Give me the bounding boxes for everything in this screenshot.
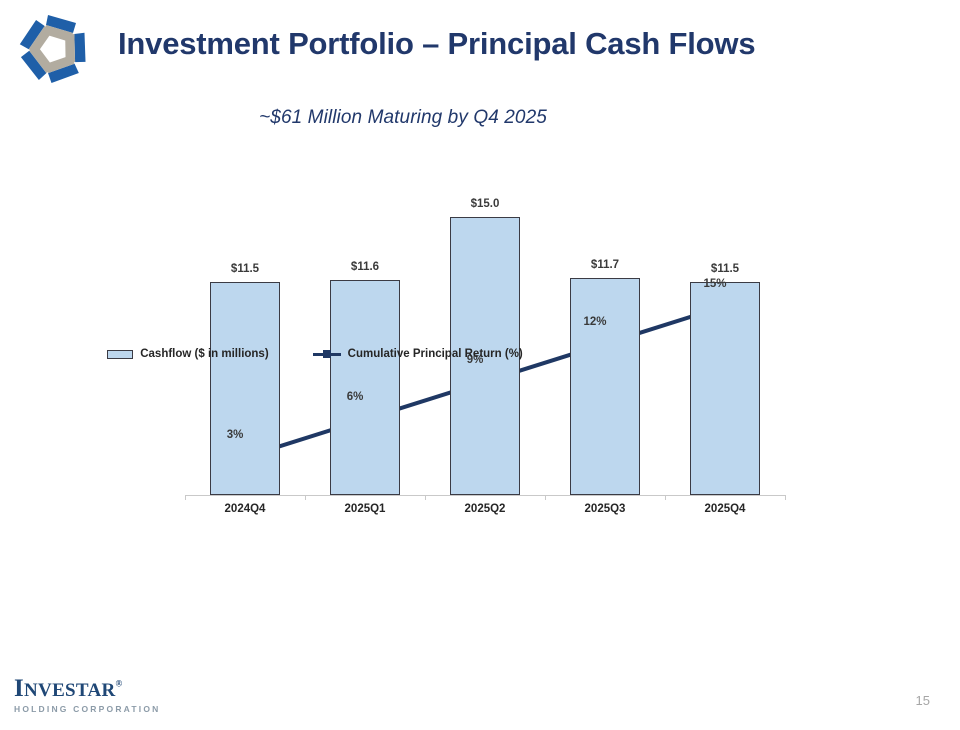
chart-plot-region: $11.5$11.6$15.0$11.7$11.53%6%9%12%15% — [165, 180, 795, 495]
legend-item-cumulative-return[interactable]: Cumulative Principal Return (%) — [313, 348, 523, 360]
axis-tick — [545, 495, 546, 500]
axis-tick — [185, 495, 186, 500]
category-label-2025Q4: 2025Q4 — [705, 503, 746, 515]
line-value-label: 12% — [583, 316, 606, 328]
wordmark-tagline: HOLDING CORPORATION — [14, 704, 204, 714]
bar-group: $15.0 — [450, 180, 520, 495]
bar-value-label: $11.6 — [351, 261, 379, 273]
category-label-2025Q3: 2025Q3 — [585, 503, 626, 515]
bar-value-label: $11.5 — [231, 263, 259, 275]
bar-cashflow-2024Q4[interactable] — [210, 282, 280, 495]
axis-tick — [425, 495, 426, 500]
bar-group: $11.5 — [210, 180, 280, 495]
investar-pinwheel-logo — [8, 5, 100, 93]
legend-item-cashflow[interactable]: Cashflow ($ in millions) — [107, 348, 268, 360]
category-axis-line — [185, 495, 785, 496]
line-value-label: 6% — [347, 391, 364, 403]
bar-group: $11.7 — [570, 180, 640, 495]
cash-flow-chart: $11.5$11.6$15.0$11.7$11.53%6%9%12%15% 20… — [165, 180, 795, 560]
investar-footer-wordmark: INVESTAR® HOLDING CORPORATION — [14, 676, 204, 714]
page-title: Investment Portfolio – Principal Cash Fl… — [118, 26, 755, 62]
bar-group: $11.5 — [690, 180, 760, 495]
line-swatch-icon — [313, 349, 341, 359]
slide-header: Investment Portfolio – Principal Cash Fl… — [0, 0, 960, 100]
bar-cashflow-2025Q3[interactable] — [570, 278, 640, 495]
bar-swatch-icon — [107, 350, 133, 359]
axis-tick — [665, 495, 666, 500]
category-label-2024Q4: 2024Q4 — [225, 503, 266, 515]
category-label-2025Q2: 2025Q2 — [465, 503, 506, 515]
registered-trademark-icon: ® — [116, 679, 123, 689]
category-label-2025Q1: 2025Q1 — [345, 503, 386, 515]
axis-tick — [785, 495, 786, 500]
bar-value-label: $11.7 — [591, 259, 619, 271]
wordmark-remainder: NVESTAR — [24, 680, 116, 701]
bar-value-label: $15.0 — [471, 198, 500, 210]
line-value-label: 15% — [703, 278, 726, 290]
axis-tick — [305, 495, 306, 500]
wordmark-initial: I — [14, 675, 24, 702]
page-number: 15 — [916, 693, 930, 708]
wordmark-text: INVESTAR® — [14, 676, 204, 701]
legend-label-cumulative-return: Cumulative Principal Return (%) — [348, 348, 523, 360]
chart-legend: Cashflow ($ in millions) Cumulative Prin… — [0, 348, 630, 360]
bar-cashflow-2025Q4[interactable] — [690, 282, 760, 495]
bar-value-label: $11.5 — [711, 263, 739, 275]
bar-cashflow-2025Q1[interactable] — [330, 280, 400, 495]
page-subtitle-text: ~$61 Million Maturing by Q4 2025 — [259, 107, 547, 128]
line-value-label: 3% — [227, 429, 244, 441]
legend-label-cashflow: Cashflow ($ in millions) — [140, 348, 268, 360]
page-subtitle: ~$61 Million Maturing by Q4 2025 — [0, 107, 960, 129]
bar-group: $11.6 — [330, 180, 400, 495]
